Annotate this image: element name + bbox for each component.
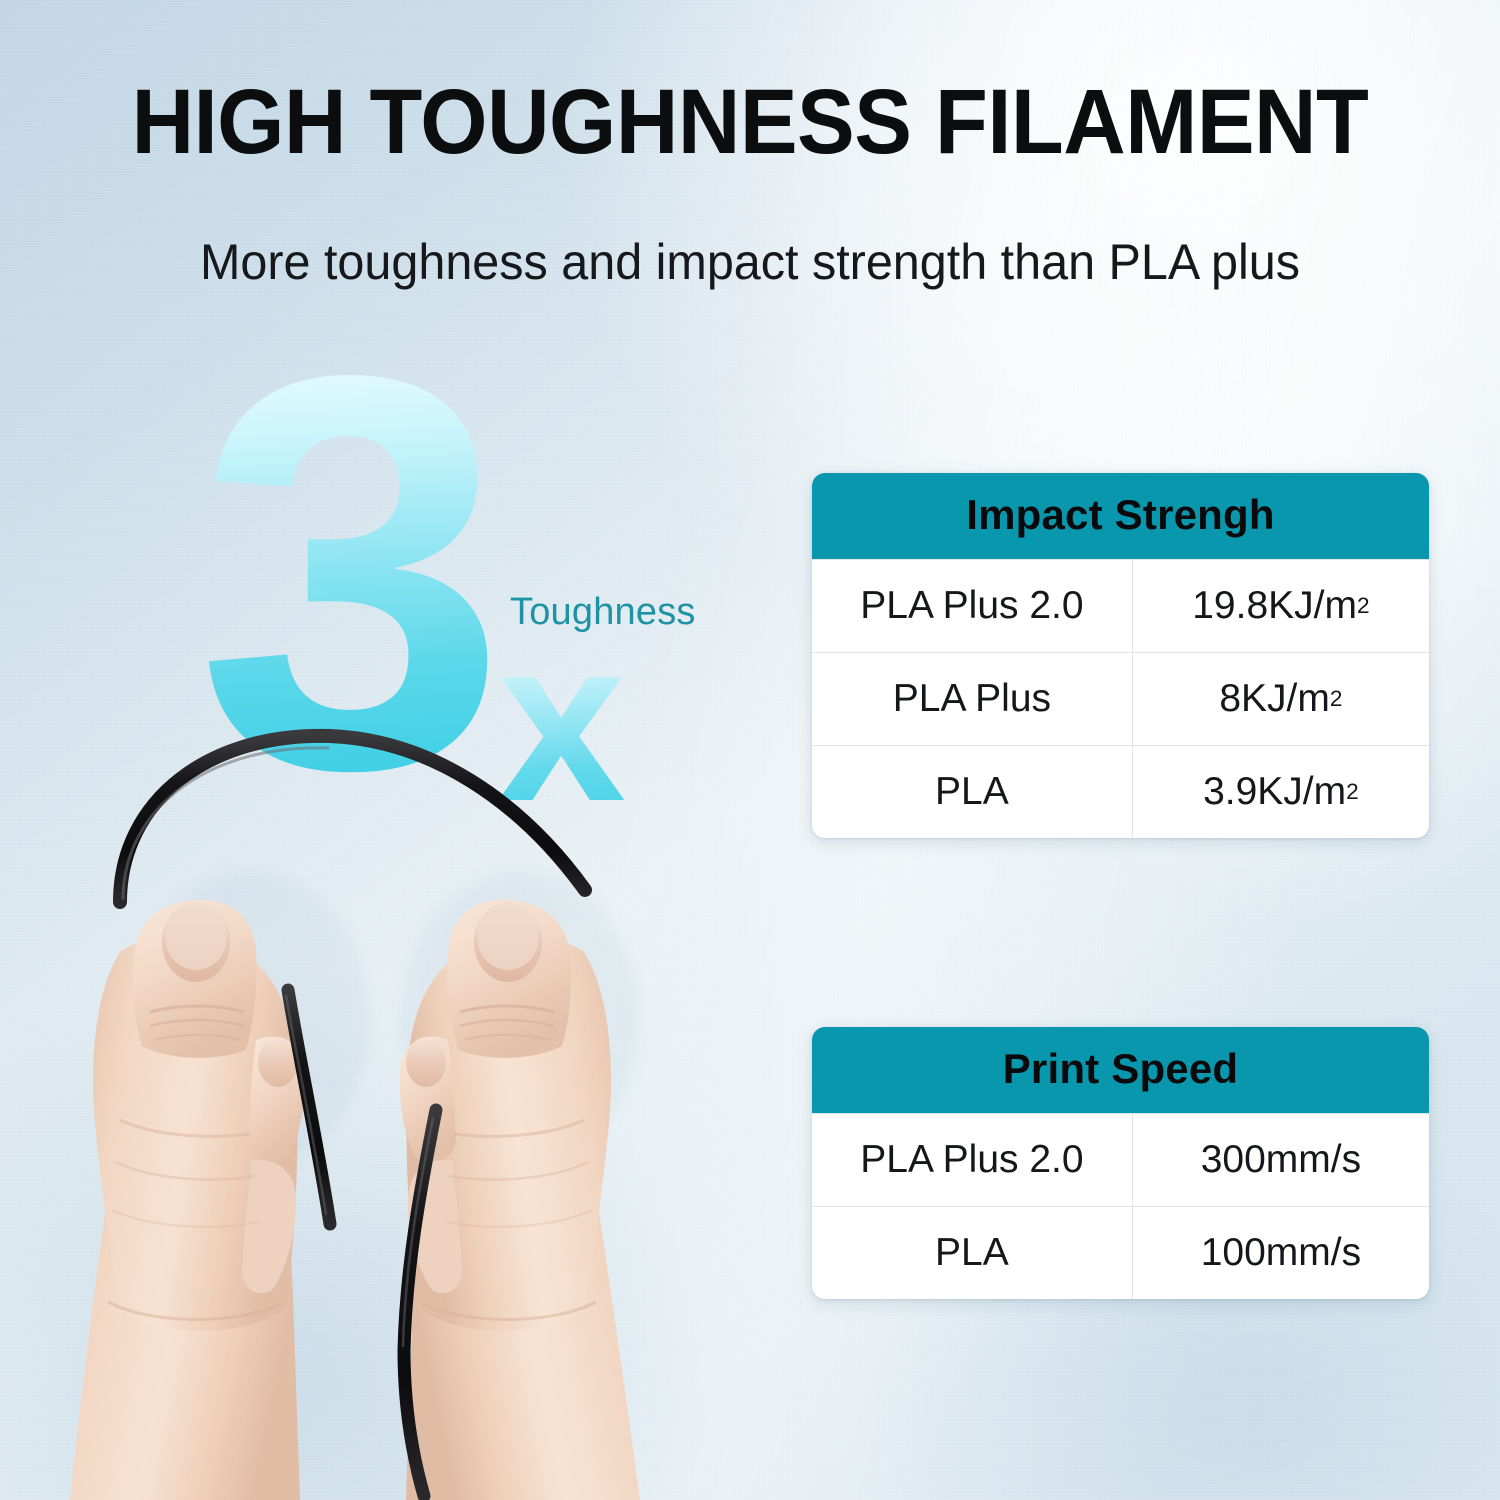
material-name-cell: PLA Plus — [812, 653, 1133, 745]
material-name-cell: PLA Plus 2.0 — [812, 1114, 1133, 1206]
material-name-cell: PLA — [812, 1207, 1133, 1299]
material-value-cell: 8KJ/m2 — [1133, 653, 1429, 745]
hands-bending-filament-photo — [0, 690, 760, 1500]
material-name-cell: PLA Plus 2.0 — [812, 560, 1133, 652]
material-value-cell: 100mm/s — [1133, 1207, 1429, 1299]
material-value-cell: 19.8KJ/m2 — [1133, 560, 1429, 652]
page-title: HIGH TOUGHNESS FILAMENT — [45, 76, 1455, 168]
table-row: PLA Plus 8KJ/m2 — [812, 652, 1429, 745]
toughness-caption: Toughness — [510, 591, 696, 634]
value-text: 19.8KJ/m — [1192, 584, 1357, 628]
spec-card-print-speed: Print Speed PLA Plus 2.0 300mm/s PLA 100… — [812, 1027, 1429, 1299]
table-row: PLA Plus 2.0 19.8KJ/m2 — [812, 559, 1429, 652]
table-row: PLA 3.9KJ/m2 — [812, 745, 1429, 838]
table-row: PLA 100mm/s — [812, 1206, 1429, 1299]
table-row: PLA Plus 2.0 300mm/s — [812, 1113, 1429, 1206]
card-title-print-speed: Print Speed — [812, 1027, 1429, 1113]
product-feature-poster: HIGH TOUGHNESS FILAMENT More toughness a… — [0, 0, 1500, 1500]
card-title-impact-strength: Impact Strengh — [812, 473, 1429, 559]
spec-card-impact-strength: Impact Strengh PLA Plus 2.0 19.8KJ/m2 PL… — [812, 473, 1429, 838]
material-value-cell: 300mm/s — [1133, 1114, 1429, 1206]
value-text: 8KJ/m — [1219, 677, 1330, 721]
left-hand — [70, 900, 304, 1500]
value-text: 3.9KJ/m — [1203, 770, 1346, 814]
material-value-cell: 3.9KJ/m2 — [1133, 746, 1429, 838]
material-name-cell: PLA — [812, 746, 1133, 838]
